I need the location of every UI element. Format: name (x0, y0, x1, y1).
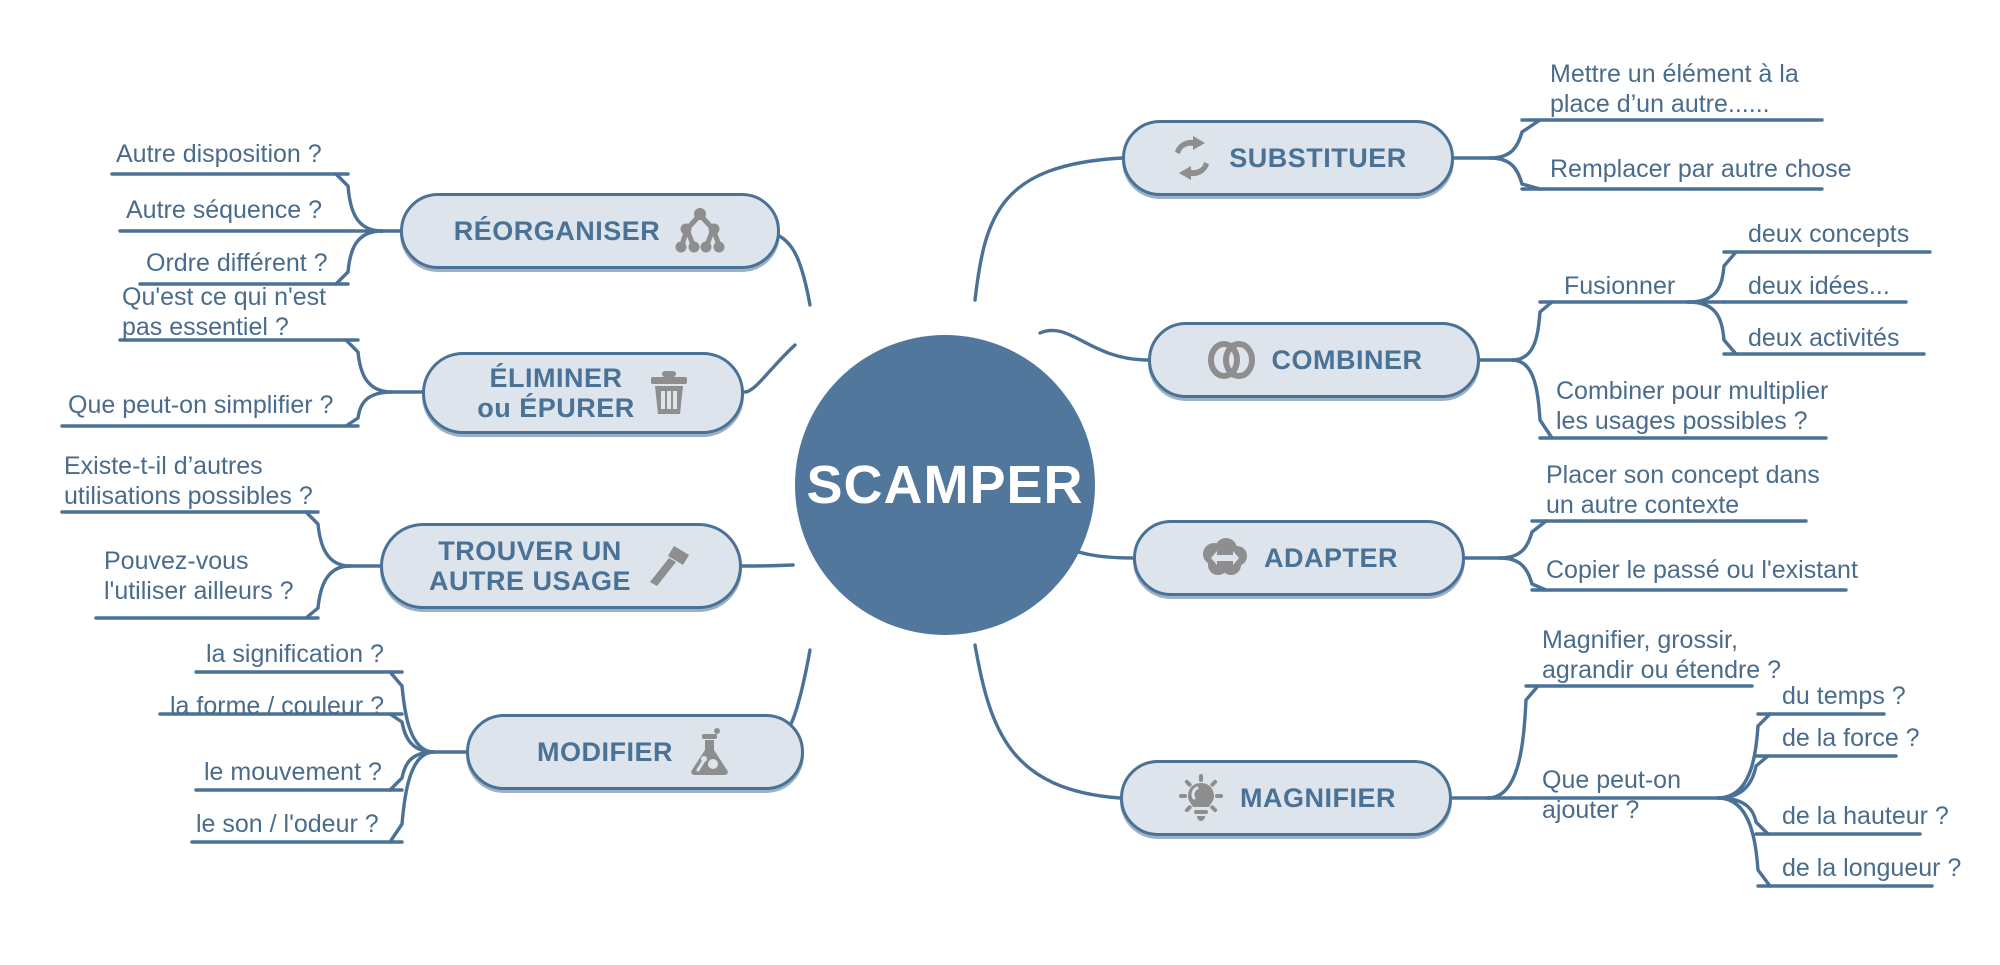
hammer-icon (645, 542, 693, 590)
hierarchy-tree-icon (674, 207, 726, 255)
branch-node-modifier[interactable]: MODIFIER (466, 714, 804, 790)
leaf-magnifier-queajouter: Que peut-on ajouter ? (1542, 766, 1742, 825)
leaf-modifier-1: la forme / couleur ? (170, 692, 420, 722)
branch-node-trouver-un-autre-usage[interactable]: TROUVER UN AUTRE USAGE (380, 523, 742, 609)
branch-label-trouver-un-autre-usage: TROUVER UN AUTRE USAGE (429, 536, 631, 596)
leaf-combiner-fusionner: Fusionner (1564, 272, 1724, 302)
branch-node-reorganiser[interactable]: RÉORGANISER (400, 193, 780, 269)
wire-substituer-leaf1-curve (1490, 158, 1540, 189)
wire-magnifier-leaf0-curve (1488, 686, 1538, 798)
wire-center-combiner (1040, 330, 1148, 360)
leaf-substituer-0: Mettre un élément à la place d’un autre.… (1550, 60, 1870, 119)
leaf-trouver-0: Existe-t-il d’autres utilisations possib… (64, 452, 344, 511)
branch-node-adapter[interactable]: ADAPTER (1133, 520, 1465, 596)
leaf-eliminer-1: Que peut-on simplifier ? (68, 391, 368, 421)
wire-elim-leaf0 (346, 340, 392, 392)
branch-node-magnifier[interactable]: MAGNIFIER (1120, 760, 1452, 836)
center-node-scamper[interactable]: SCAMPER (795, 335, 1095, 635)
leaf-trouver-1: Pouvez-vous l'utiliser ailleurs ? (104, 547, 344, 606)
leaf-reorganiser-0: Autre disposition ? (116, 140, 366, 170)
leaf-fusionner-child-2: deux activités (1748, 324, 1988, 354)
wire-substituer-leaf0-curve (1490, 120, 1540, 158)
leaf-ajouter-child-3: de la longueur ? (1782, 854, 2000, 884)
branch-label-modifier: MODIFIER (537, 737, 673, 767)
wire-combiner-leaf0-curve (1512, 302, 1552, 360)
leaf-adapter-1: Copier le passé ou l'existant (1546, 556, 1886, 586)
branch-label-substituer: SUBSTITUER (1229, 143, 1407, 173)
leaf-modifier-0: la signification ? (206, 640, 426, 670)
leaf-ajouter-child-0: du temps ? (1782, 682, 1982, 712)
wire-adapter-leaf0-curve (1500, 521, 1546, 558)
leaf-fusionner-child-1: deux idées... (1748, 272, 1978, 302)
cloud-arrows-icon (1200, 538, 1250, 578)
leaf-ajouter-child-1: de la force ? (1782, 724, 1982, 754)
swap-arrows-icon (1169, 136, 1215, 180)
leaf-substituer-1: Remplacer par autre chose (1550, 155, 1880, 185)
leaf-fusionner-child-0: deux concepts (1748, 220, 1978, 250)
branch-node-combiner[interactable]: COMBINER (1148, 322, 1480, 398)
center-node-label: SCAMPER (806, 454, 1083, 516)
wire-adapter-leaf1-curve (1500, 558, 1546, 590)
branch-label-eliminer: ÉLIMINER ou ÉPURER (477, 363, 635, 423)
leaf-ajouter-child-2: de la hauteur ? (1782, 802, 2000, 832)
flask-icon (687, 728, 733, 776)
leaf-combiner-1: Combiner pour multiplier les usages poss… (1556, 377, 1896, 436)
branch-label-adapter: ADAPTER (1264, 543, 1398, 573)
leaf-modifier-2: le mouvement ? (204, 758, 424, 788)
wire-center-substituer (975, 158, 1122, 300)
leaf-eliminer-0: Qu'est ce qui n'est pas essentiel ? (122, 283, 372, 342)
leaf-reorganiser-2: Ordre différent ? (146, 249, 396, 279)
mindmap-canvas: SCAMPER SUBSTITUER COMBINER (0, 0, 2000, 965)
interlocking-rings-icon (1206, 340, 1258, 380)
branch-node-substituer[interactable]: SUBSTITUER (1122, 120, 1454, 196)
wire-center-eliminer (745, 345, 795, 392)
wire-fusionner-c2 (1688, 302, 1736, 354)
lightbulb-icon (1176, 774, 1226, 822)
leaf-modifier-3: le son / l'odeur ? (196, 810, 426, 840)
wire-center-trouver (742, 565, 793, 566)
wire-combiner-leaf1-curve (1512, 360, 1552, 438)
branch-node-eliminer[interactable]: ÉLIMINER ou ÉPURER (422, 352, 744, 434)
branch-label-magnifier: MAGNIFIER (1240, 783, 1396, 813)
leaf-reorganiser-1: Autre séquence ? (126, 196, 376, 226)
trash-can-icon (649, 370, 689, 416)
branch-label-combiner: COMBINER (1272, 345, 1423, 375)
leaf-magnifier-0: Magnifier, grossir, agrandir ou étendre … (1542, 626, 1842, 685)
leaf-adapter-0: Placer son concept dans un autre context… (1546, 461, 1866, 520)
branch-label-reorganiser: RÉORGANISER (454, 216, 661, 246)
wire-center-magnifier (975, 645, 1120, 798)
